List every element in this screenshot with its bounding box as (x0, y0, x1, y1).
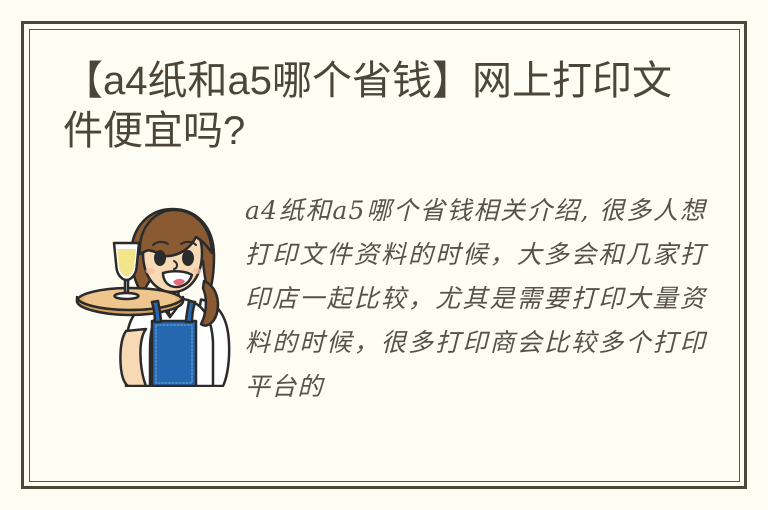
article-body-section: a4纸和a5哪个省钱相关介绍, 很多人想打印文件资料的时候，大多会和几家打印店一… (56, 189, 706, 469)
page-title: 【a4纸和a5哪个省钱】网上打印文件便宜吗? (63, 56, 693, 156)
waitress-with-tray-icon (70, 197, 235, 387)
card-content: 【a4纸和a5哪个省钱】网上打印文件便宜吗? (29, 29, 740, 482)
article-card-page: 【a4纸和a5哪个省钱】网上打印文件便宜吗? (0, 0, 768, 510)
